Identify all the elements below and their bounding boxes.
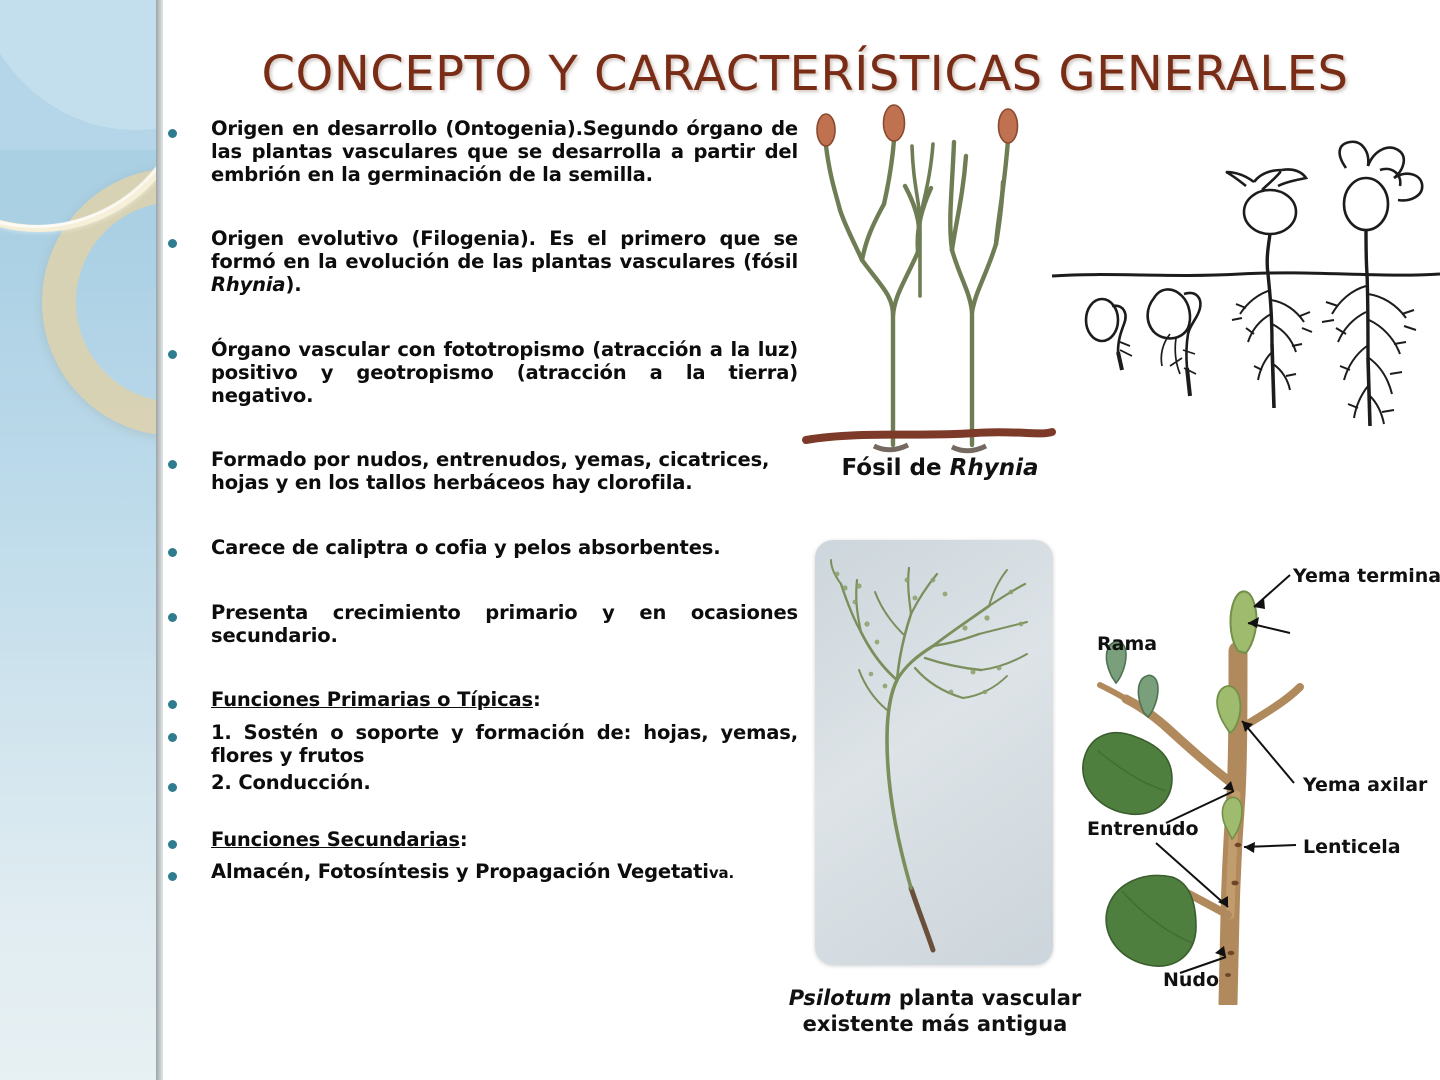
bullet-text-funciones-primarias: Funciones Primarias o Típicas: [211, 689, 798, 712]
bullet-dot-icon [168, 350, 177, 359]
slide-canvas: CONCEPTO Y CARACTERÍSTICAS GENERALES Ori… [0, 0, 1440, 1080]
spacer [168, 186, 798, 228]
list-item: Origen evolutivo (Filogenia). Es el prim… [168, 228, 798, 296]
fossil-rhynia-illustration [800, 100, 1080, 455]
bullet-text-formado-por: Formado por nudos, entrenudos, yemas, ci… [211, 449, 798, 495]
underlined-heading: Funciones Secundarias [211, 828, 460, 851]
stem-label-yema-axilar: Yema axilar [1303, 774, 1427, 796]
italic-species-name: Rhynia [211, 273, 285, 296]
spacer [168, 795, 798, 829]
list-item: Carece de caliptra o cofia y pelos absor… [168, 537, 798, 560]
text-segment: : [533, 688, 541, 711]
underlined-heading: Funciones Primarias o Típicas [211, 688, 533, 711]
bullet-dot-icon [168, 733, 177, 742]
page-title: CONCEPTO Y CARACTERÍSTICAS GENERALES [190, 46, 1420, 102]
text-segment: Fósil de [842, 455, 950, 481]
psilotum-photo [815, 540, 1053, 965]
text-segment: Almacén, Fotosíntesis y Propagación Vege… [211, 860, 709, 883]
stem-label-lenticela: Lenticela [1303, 836, 1401, 858]
list-item: 1. Sostén o soporte y formación de: hoja… [168, 722, 798, 768]
decorative-sidebar [0, 0, 156, 1080]
list-item: Funciones Secundarias: [168, 829, 798, 852]
stem-label-rama: Rama [1097, 633, 1157, 655]
italic-species-name: Psilotum [789, 986, 892, 1010]
figure-caption-psilotum: Psilotum planta vascularexistente más an… [770, 985, 1100, 1038]
list-item: Funciones Primarias o Típicas: [168, 689, 798, 712]
bullet-dot-icon [168, 700, 177, 709]
text-segment: Origen evolutivo (Filogenia). Es el prim… [211, 227, 798, 273]
bullet-dot-icon [168, 872, 177, 881]
stem-label-yema-terminal: Yema terminal [1293, 565, 1440, 587]
list-item: Órgano vascular con fototropismo (atracc… [168, 339, 798, 407]
bullet-text-origen-evolutivo: Origen evolutivo (Filogenia). Es el prim… [211, 228, 798, 296]
text-segment: : [460, 828, 468, 851]
bullet-list: Origen en desarrollo (Ontogenia).Segundo… [168, 118, 798, 884]
spacer [168, 407, 798, 449]
seed-germination-sequence-illustration [1050, 108, 1440, 448]
bullet-text-origen-desarrollo: Origen en desarrollo (Ontogenia).Segundo… [211, 118, 798, 186]
bullet-dot-icon [168, 840, 177, 849]
sidebar-divider [156, 0, 163, 1080]
list-item: Formado por nudos, entrenudos, yemas, ci… [168, 449, 798, 495]
text-segment-small: va. [709, 864, 734, 882]
list-item: Origen en desarrollo (Ontogenia).Segundo… [168, 118, 798, 186]
bullet-text-funcion-2: 2. Conducción. [211, 772, 798, 795]
list-item: Almacén, Fotosíntesis y Propagación Vege… [168, 861, 798, 884]
bullet-dot-icon [168, 548, 177, 557]
psilotum-plant-illustration [815, 540, 1053, 965]
bullet-dot-icon [168, 783, 177, 792]
bullet-dot-icon [168, 613, 177, 622]
bullet-text-funciones-secundarias: Funciones Secundarias: [211, 829, 798, 852]
italic-species-name: Rhynia [950, 455, 1039, 481]
bullet-dot-icon [168, 239, 177, 248]
text-segment: ). [285, 273, 301, 296]
text-segment: existente más antigua [803, 1012, 1068, 1036]
bullet-dot-icon [168, 129, 177, 138]
stem-label-entrenudo: Entrenudo [1087, 818, 1199, 840]
spacer [168, 495, 798, 537]
list-item: Presenta crecimiento primario y en ocasi… [168, 602, 798, 648]
spacer [168, 297, 798, 339]
bullet-text-organo-vascular: Órgano vascular con fototropismo (atracc… [211, 339, 798, 407]
list-item: 2. Conducción. [168, 772, 798, 795]
spacer [168, 560, 798, 602]
bullet-dot-icon [168, 460, 177, 469]
decorative-thin-ring-highlight [0, 0, 156, 228]
text-segment: planta vascular [892, 986, 1082, 1010]
figure-caption-rhynia: Fósil de Rhynia [790, 455, 1090, 481]
bullet-text-carece-caliptra: Carece de caliptra o cofia y pelos absor… [211, 537, 798, 560]
bullet-text-funcion-1: 1. Sostén o soporte y formación de: hoja… [211, 722, 798, 768]
bullet-text-crecimiento-primario: Presenta crecimiento primario y en ocasi… [211, 602, 798, 648]
stem-label-nudo: Nudo [1163, 969, 1219, 991]
bullet-text-funciones-secundarias-detalle: Almacén, Fotosíntesis y Propagación Vege… [211, 861, 798, 884]
spacer [168, 647, 798, 689]
